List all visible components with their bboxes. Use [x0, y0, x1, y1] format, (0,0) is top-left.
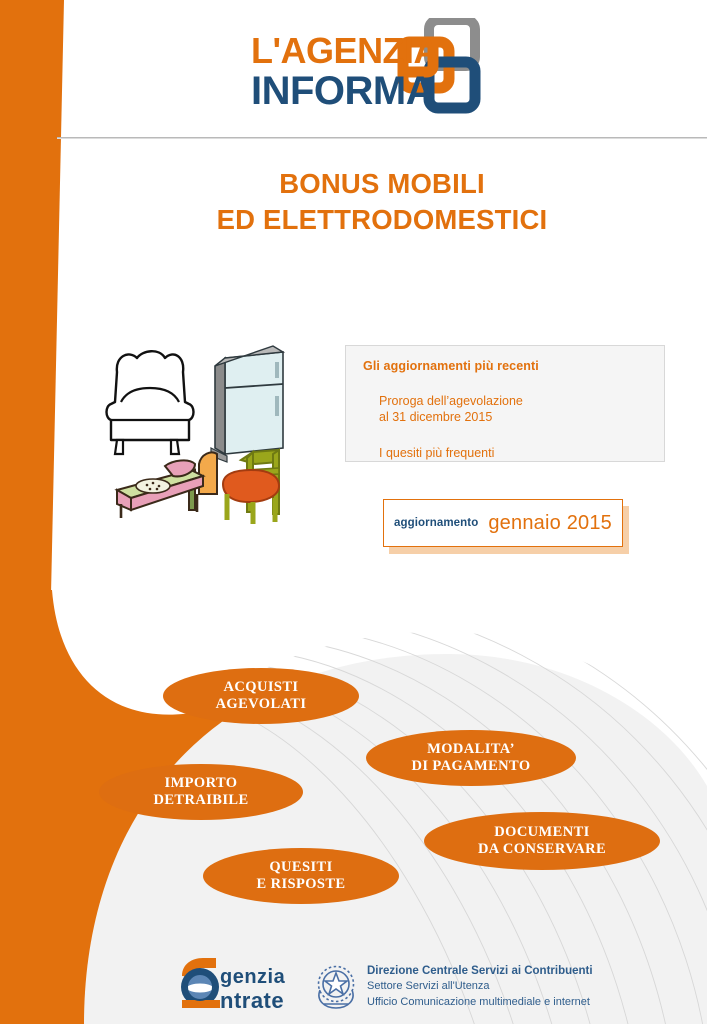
bubble-modalita-di-pagamento-line-1: MODALITA’	[427, 741, 515, 757]
bubble-documenti-da-conservare-line-1: DOCUMENTI	[494, 824, 589, 840]
agency-logo-word-2: ntrate	[220, 988, 284, 1013]
agenzia-entrate-logo: genzia ntrate	[176, 956, 310, 1014]
armchair-illustration	[107, 351, 194, 454]
update-link-proroga-line-1: Proroga dell’agevolazione	[379, 394, 523, 408]
update-link-quesiti[interactable]: I quesiti più frequenti	[379, 446, 494, 460]
chair-illustration	[223, 450, 279, 524]
bubble-acquisti-agevolati-line-1: ACQUISTI	[224, 679, 299, 695]
bed-illustration	[117, 452, 217, 518]
footer-line-3: Ufficio Comunicazione multimediale e int…	[367, 995, 593, 1011]
left-orange-band	[0, 0, 64, 640]
update-stamp-value: gennaio 2015	[488, 512, 612, 535]
logo-line-1: L'AGENZIA	[251, 30, 440, 71]
page-title-line-2: ED ELETTRODOMESTICI	[57, 202, 707, 238]
bubble-quesiti-e-risposte-line-1: QUESITI	[269, 859, 332, 875]
agency-logo-word-1: genzia	[220, 966, 286, 988]
bubble-importo-detraibile-line-1: IMPORTO	[165, 775, 238, 791]
page-title: BONUS MOBILI ED ELETTRODOMESTICI	[57, 166, 707, 239]
bubble-importo-detraibile-line-2: DETRAIBILE	[153, 792, 248, 808]
update-link-proroga[interactable]: Proroga dell’agevolazione al 31 dicembre…	[379, 393, 523, 426]
update-link-proroga-line-2: al 31 dicembre 2015	[379, 410, 492, 424]
orange-bottom-swoosh	[0, 590, 707, 1024]
bubble-modalita-di-pagamento-line-2: DI PAGAMENTO	[411, 758, 530, 774]
bubble-documenti-da-conservare-line-2: DA CONSERVARE	[478, 841, 606, 857]
bubble-modalita-di-pagamento[interactable]: MODALITA’ DI PAGAMENTO	[366, 730, 576, 786]
recent-updates-panel: Gli aggiornamenti più recenti Proroga de…	[345, 345, 665, 462]
italian-republic-emblem-icon	[312, 960, 360, 1012]
refrigerator-illustration	[211, 346, 283, 462]
logo-line-2: INFORMA	[251, 69, 434, 113]
bubble-quesiti-e-risposte[interactable]: QUESITI E RISPOSTE	[203, 848, 399, 904]
bubble-acquisti-agevolati-line-2: AGEVOLATI	[216, 696, 307, 712]
poster-page: L'AGENZIA INFORMA BONUS MOBILI ED ELETTR…	[0, 0, 707, 1024]
update-stamp-box: aggiornamento gennaio 2015	[383, 499, 623, 547]
bubble-importo-detraibile[interactable]: IMPORTO DETRAIBILE	[99, 764, 303, 820]
bubble-quesiti-e-risposte-line-2: E RISPOSTE	[256, 876, 345, 892]
footer-line-2: Settore Servizi all'Utenza	[367, 979, 593, 995]
update-stamp-label: aggiornamento	[394, 517, 478, 529]
footer-office-text: Direzione Centrale Servizi ai Contribuen…	[367, 963, 593, 1011]
header-divider	[57, 137, 707, 139]
bubble-documenti-da-conservare[interactable]: DOCUMENTI DA CONSERVARE	[424, 812, 660, 870]
update-stamp: aggiornamento gennaio 2015	[383, 499, 623, 547]
agenzia-informa-logo: L'AGENZIA INFORMA	[243, 18, 513, 123]
bubble-acquisti-agevolati[interactable]: ACQUISTI AGEVOLATI	[163, 668, 359, 724]
furniture-illustrations	[103, 344, 318, 529]
recent-updates-heading: Gli aggiornamenti più recenti	[363, 359, 539, 373]
page-title-line-1: BONUS MOBILI	[57, 166, 707, 202]
footer-line-1: Direzione Centrale Servizi ai Contribuen…	[367, 963, 593, 979]
